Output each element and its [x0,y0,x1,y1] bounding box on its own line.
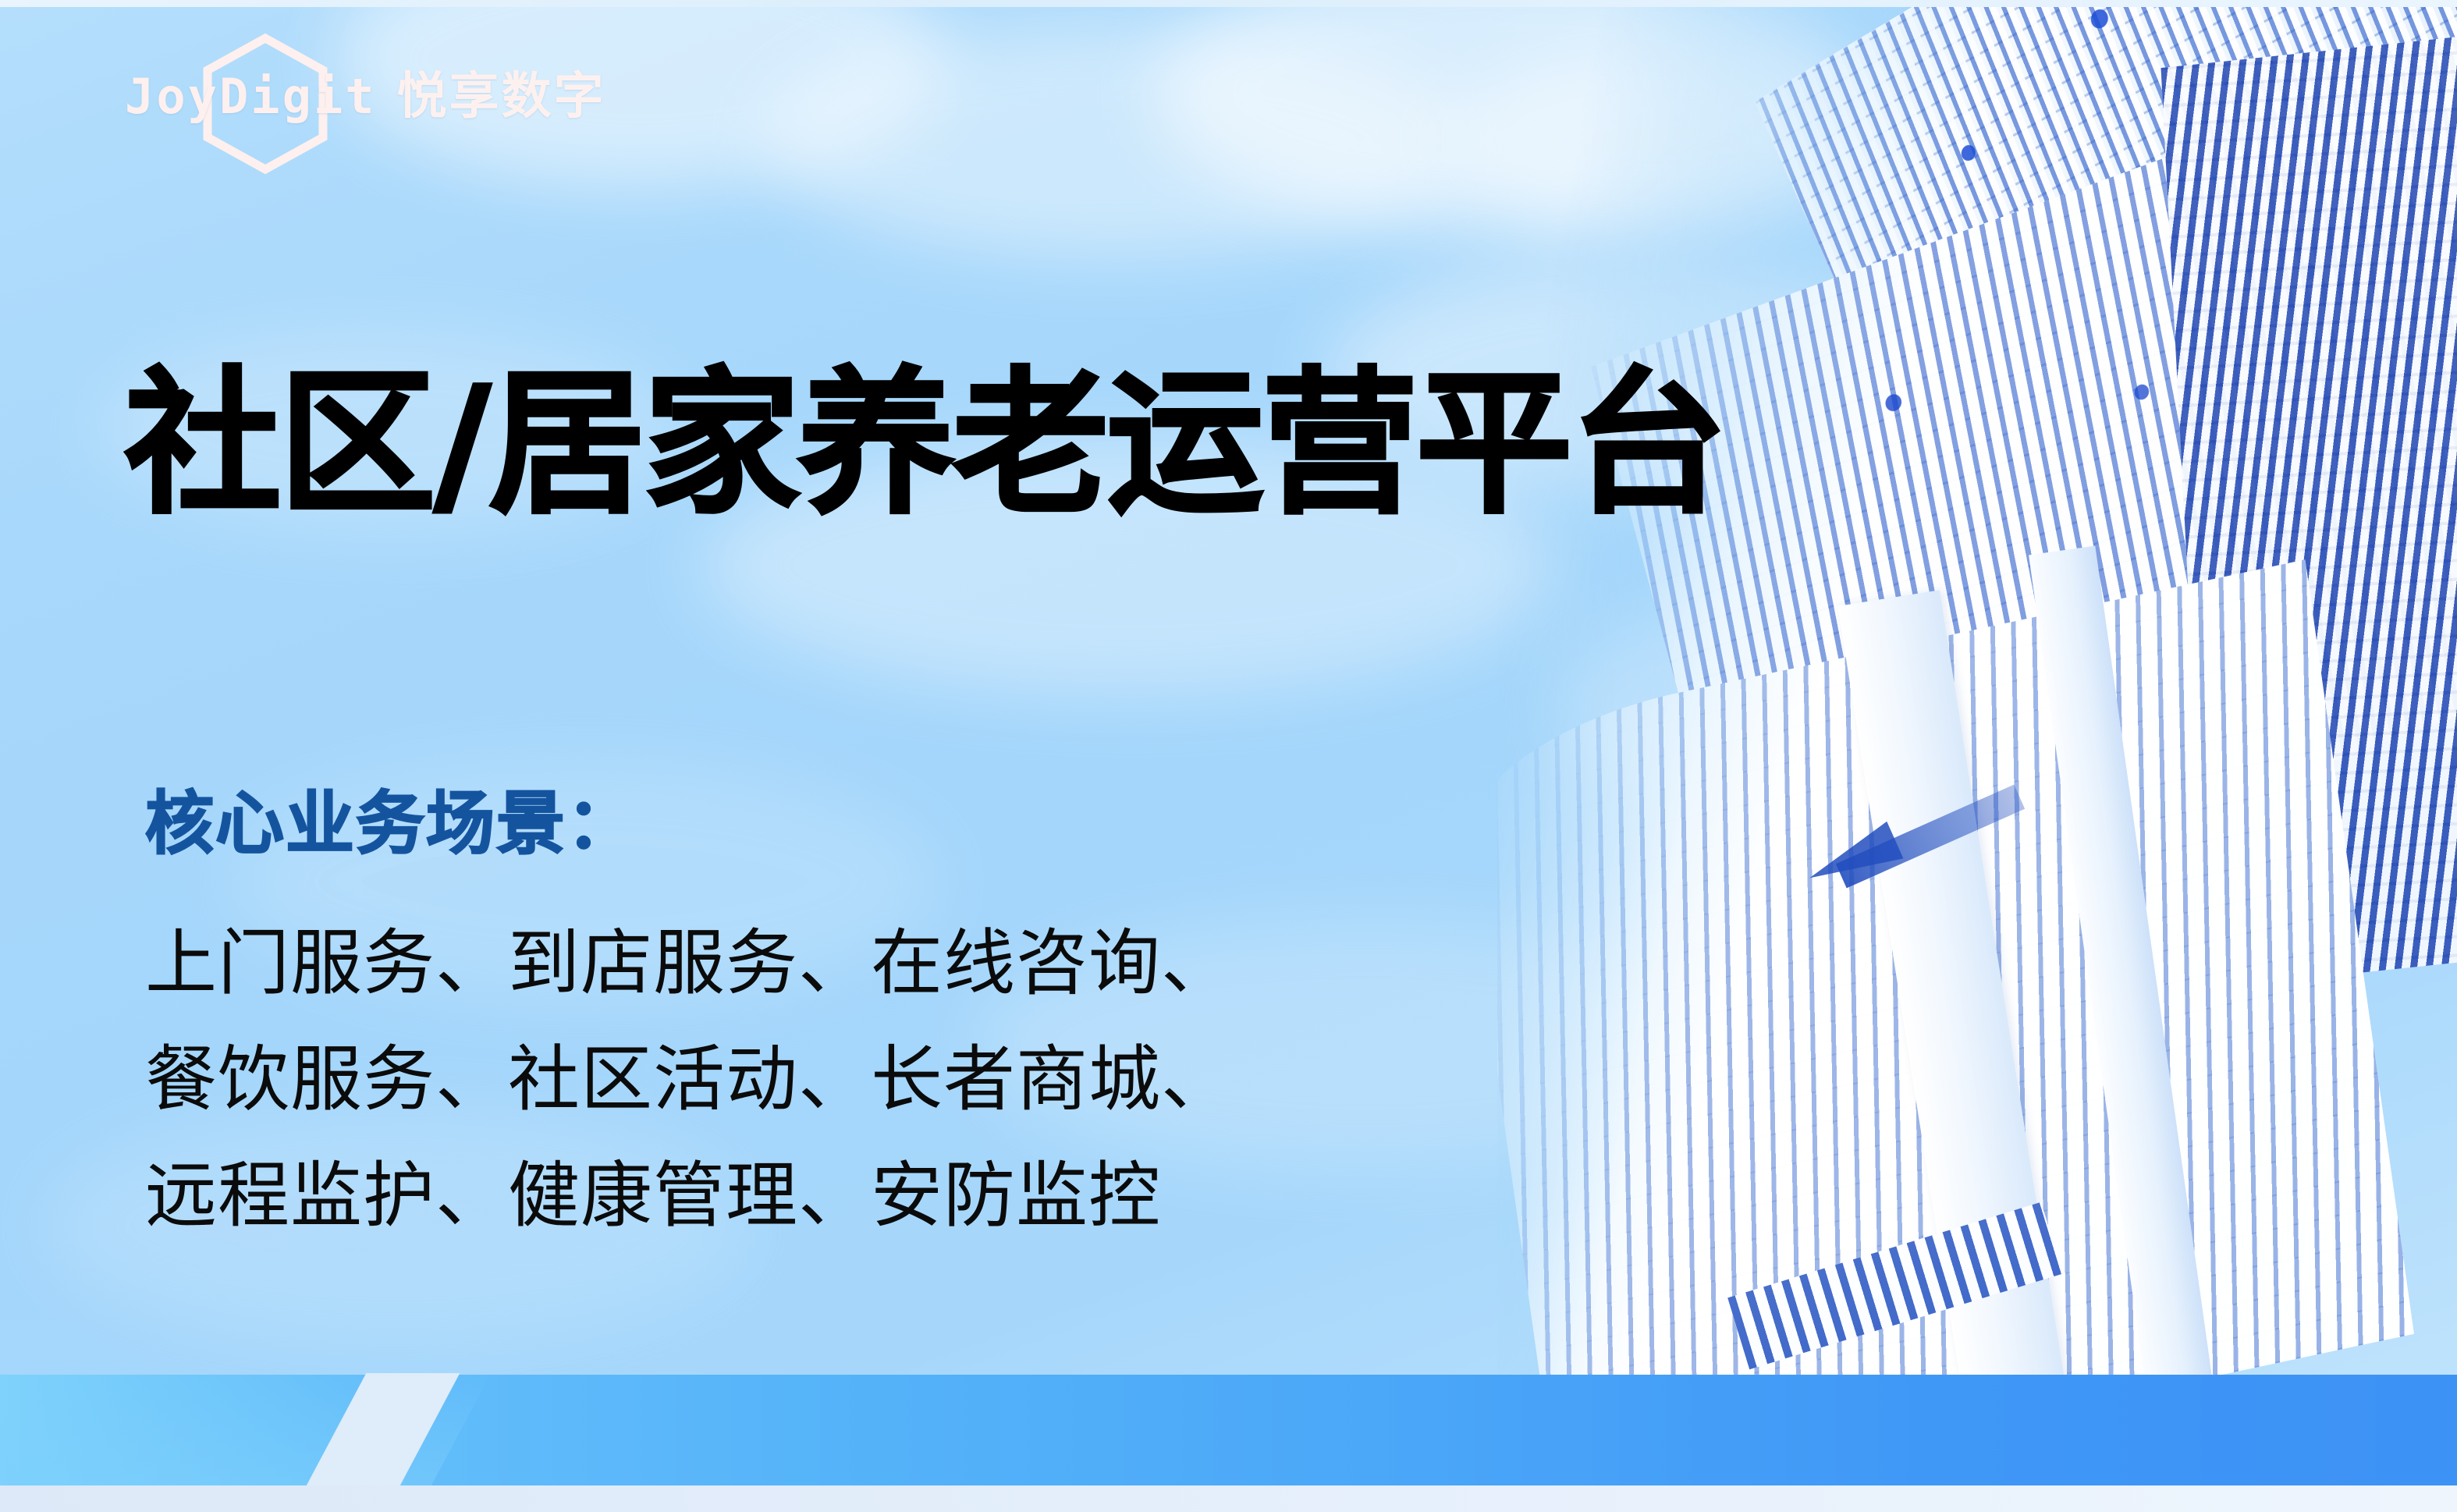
scenario-line: 餐饮服务、社区活动、长者商城、 [145,1021,1234,1138]
logo-text-row: JoyDigit 悦享数字 [125,56,606,128]
scenario-list: 上门服务、到店服务、在线咨询、 餐饮服务、社区活动、长者商城、 远程监护、健康管… [145,905,1234,1254]
page-title: 社区/居家养老运营平台 [125,362,1725,527]
section-kicker: 核心业务场景： [145,768,1234,868]
skyscraper-photo [1497,0,2457,1375]
scenario-line: 远程监护、健康管理、安防监控 [145,1138,1234,1254]
cloud-shape [765,23,1467,257]
banner-footer-strip [0,1485,2457,1512]
bottom-banner [0,1375,2457,1512]
slide-root: JoyDigit 悦享数字 社区/居家养老运营平台 核心业务场景： 上门服务、到… [0,0,2457,1512]
top-edge-strip [0,0,2457,7]
logo-wordmark-en: JoyDigit [125,68,377,125]
content-block: 核心业务场景： 上门服务、到店服务、在线咨询、 餐饮服务、社区活动、长者商城、 … [145,768,1234,1254]
logo-wordmark-cn: 悦享数字 [397,56,606,128]
scenario-line: 上门服务、到店服务、在线咨询、 [145,905,1234,1021]
